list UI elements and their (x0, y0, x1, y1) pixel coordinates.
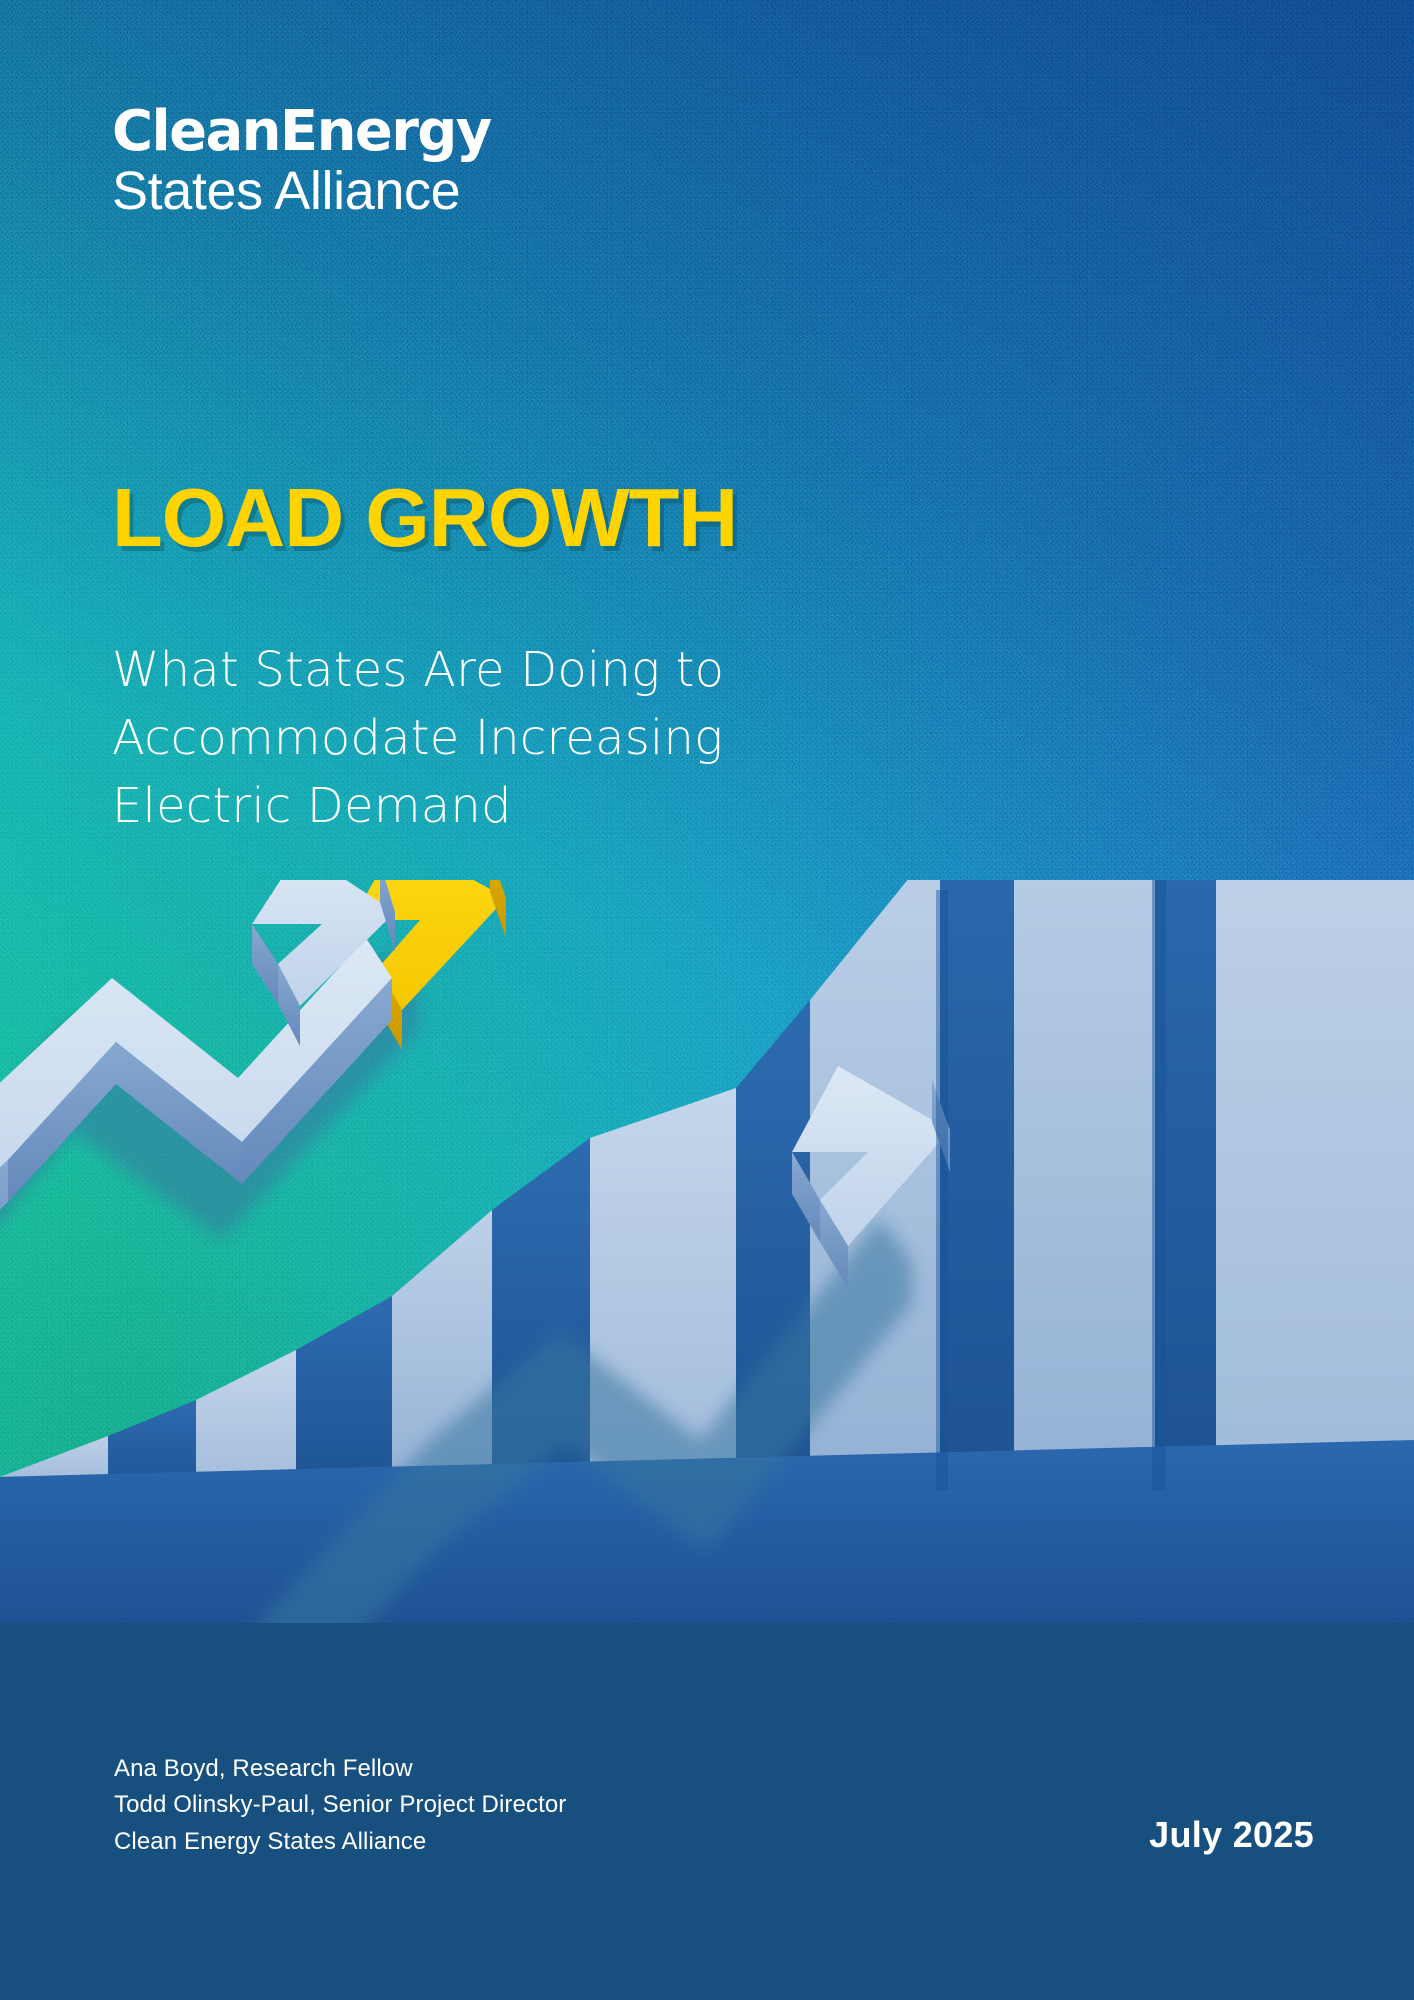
report-subtitle: What States Are Doing to Accommodate Inc… (112, 636, 724, 840)
subtitle-line-2: Accommodate Increasing (112, 704, 724, 772)
growth-chart-illustration (0, 880, 1414, 1640)
subtitle-line-1: What States Are Doing to (112, 636, 724, 704)
light-arrow-upper-left (0, 938, 392, 1304)
organization-logo: CleanEnergy States Alliance (112, 103, 491, 224)
author-line-2: Todd Olinsky-Paul, Senior Project Direct… (114, 1787, 566, 1823)
publication-date: July 2025 (1149, 1814, 1314, 1860)
report-title: LOAD GROWTH (112, 476, 737, 559)
report-cover: CleanEnergy States Alliance LOAD GROWTH … (0, 0, 1414, 2000)
footer-band: Ana Boyd, Research Fellow Todd Olinsky-P… (0, 1623, 1414, 2000)
author-block: Ana Boyd, Research Fellow Todd Olinsky-P… (114, 1751, 566, 1860)
subtitle-line-3: Electric Demand (112, 772, 724, 840)
footer-content: Ana Boyd, Research Fellow Todd Olinsky-P… (114, 1751, 1314, 1860)
author-line-1: Ana Boyd, Research Fellow (114, 1751, 566, 1787)
author-line-3: Clean Energy States Alliance (114, 1824, 566, 1860)
logo-line-2: States Alliance (112, 160, 491, 224)
logo-line-1: CleanEnergy (112, 103, 491, 160)
bar-group-back (940, 880, 1414, 1500)
